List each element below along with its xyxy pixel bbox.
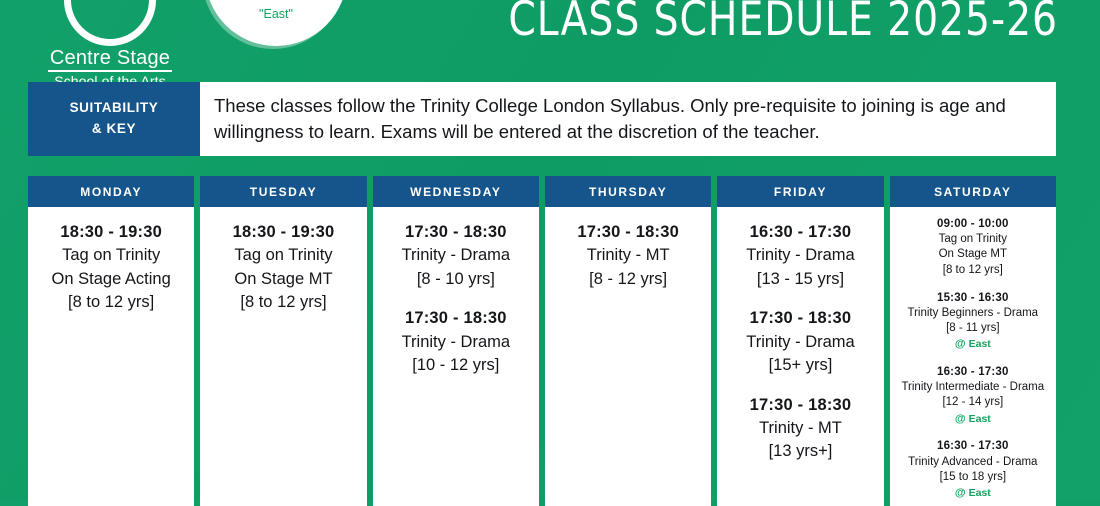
class-age-range: [10 - 12 yrs]	[379, 354, 533, 377]
class-age-range: [15+ yrs]	[723, 354, 877, 377]
class-time: 17:30 - 18:30	[551, 221, 705, 244]
class-title: Trinity - Drama	[723, 331, 877, 354]
day-body-saturday: 09:00 - 10:00Tag on TrinityOn Stage MT[8…	[890, 207, 1056, 506]
brand-name: Centre Stage	[48, 46, 172, 72]
class-age-range: [12 - 14 yrs]	[896, 395, 1050, 410]
suitability-row: SUITABILITY & KEY These classes follow t…	[28, 82, 1056, 156]
suitability-text: These classes follow the Trinity College…	[200, 82, 1056, 156]
class-title: Trinity - Drama	[379, 331, 533, 354]
class-venue-badge: @ East	[896, 486, 1050, 501]
east-note-badge: unless stated as "East"	[205, 0, 347, 46]
day-body-wednesday: 17:30 - 18:30Trinity - Drama[8 - 10 yrs]…	[373, 207, 539, 506]
class-venue-name: East	[969, 487, 991, 499]
class-title: Trinity Advanced - Drama	[896, 455, 1050, 470]
suitability-label-line-2: & KEY	[92, 119, 136, 140]
class-time: 15:30 - 16:30	[896, 291, 1050, 306]
class-title: Trinity - Drama	[723, 244, 877, 267]
class-title: Tag on Trinity	[206, 244, 360, 267]
class-age-range: [15 to 18 yrs]	[896, 470, 1050, 485]
class-title: On Stage MT	[896, 247, 1050, 262]
badge-line-2: "East"	[259, 5, 293, 24]
day-header-friday[interactable]: FRIDAY	[717, 176, 883, 207]
class-title: On Stage MT	[206, 268, 360, 291]
brand-logo: Centre Stage School of the Arts	[30, 0, 190, 91]
suitability-label-line-1: SUITABILITY	[70, 98, 159, 119]
class-title: Trinity - MT	[551, 244, 705, 267]
class-title: On Stage Acting	[34, 268, 188, 291]
class-venue-badge: @ East	[896, 337, 1050, 352]
class-title: Trinity Beginners - Drama	[896, 306, 1050, 321]
at-symbol-icon: @	[955, 338, 969, 350]
class-time: 09:00 - 10:00	[896, 217, 1050, 232]
at-symbol-icon: @	[955, 413, 969, 425]
class-time: 16:30 - 17:30	[896, 365, 1050, 380]
class-time: 17:30 - 18:30	[379, 307, 533, 330]
class-title: Tag on Trinity	[896, 232, 1050, 247]
day-header-wednesday[interactable]: WEDNESDAY	[373, 176, 539, 207]
page-title: CLASS SCHEDULE 2025-26	[508, 0, 1058, 47]
class-entry[interactable]: 16:30 - 17:30Trinity - Drama[13 - 15 yrs…	[723, 221, 877, 291]
schedule-grid: MONDAY18:30 - 19:30Tag on TrinityOn Stag…	[28, 176, 1056, 506]
brand-name-wrap: Centre Stage	[30, 46, 190, 72]
class-age-range: [8 - 12 yrs]	[551, 268, 705, 291]
class-entry[interactable]: 18:30 - 19:30Tag on TrinityOn Stage Acti…	[34, 221, 188, 315]
day-header-monday[interactable]: MONDAY	[28, 176, 194, 207]
class-time: 18:30 - 19:30	[34, 221, 188, 244]
class-entry[interactable]: 09:00 - 10:00Tag on TrinityOn Stage MT[8…	[896, 217, 1050, 278]
class-entry[interactable]: 17:30 - 18:30Trinity - Drama[10 - 12 yrs…	[379, 307, 533, 377]
class-age-range: [8 to 12 yrs]	[896, 263, 1050, 278]
class-time: 16:30 - 17:30	[723, 221, 877, 244]
day-header-tuesday[interactable]: TUESDAY	[200, 176, 366, 207]
class-age-range: [8 - 10 yrs]	[379, 268, 533, 291]
suitability-label: SUITABILITY & KEY	[28, 82, 200, 156]
class-entry[interactable]: 17:30 - 18:30Trinity - Drama[15+ yrs]	[723, 307, 877, 377]
class-time: 17:30 - 18:30	[723, 307, 877, 330]
class-venue-name: East	[969, 338, 991, 350]
class-age-range: [13 - 15 yrs]	[723, 268, 877, 291]
class-title: Tag on Trinity	[34, 244, 188, 267]
class-age-range: [13 yrs+]	[723, 440, 877, 463]
at-symbol-icon: @	[955, 487, 969, 499]
class-entry[interactable]: 17:30 - 18:30Trinity - Drama[8 - 10 yrs]	[379, 221, 533, 291]
class-age-range: [8 to 12 yrs]	[34, 291, 188, 314]
day-header-saturday[interactable]: SATURDAY	[890, 176, 1056, 207]
class-venue-name: East	[969, 413, 991, 425]
day-column-saturday: SATURDAY09:00 - 10:00Tag on TrinityOn St…	[890, 176, 1056, 506]
class-entry[interactable]: 18:30 - 19:30Tag on TrinityOn Stage MT[8…	[206, 221, 360, 315]
class-age-range: [8 - 11 yrs]	[896, 321, 1050, 336]
class-age-range: [8 to 12 yrs]	[206, 291, 360, 314]
class-entry[interactable]: 16:30 - 17:30Trinity Advanced - Drama[15…	[896, 439, 1050, 500]
circle-logo-mark-icon	[64, 0, 156, 46]
class-time: 17:30 - 18:30	[723, 394, 877, 417]
day-column-wednesday: WEDNESDAY17:30 - 18:30Trinity - Drama[8 …	[373, 176, 539, 506]
day-body-friday: 16:30 - 17:30Trinity - Drama[13 - 15 yrs…	[717, 207, 883, 506]
class-entry[interactable]: 17:30 - 18:30Trinity - MT[13 yrs+]	[723, 394, 877, 464]
day-header-thursday[interactable]: THURSDAY	[545, 176, 711, 207]
day-column-friday: FRIDAY16:30 - 17:30Trinity - Drama[13 - …	[717, 176, 883, 506]
day-body-thursday: 17:30 - 18:30Trinity - MT[8 - 12 yrs]	[545, 207, 711, 506]
class-title: Trinity Intermediate - Drama	[896, 380, 1050, 395]
class-title: Trinity - MT	[723, 417, 877, 440]
class-time: 17:30 - 18:30	[379, 221, 533, 244]
class-entry[interactable]: 16:30 - 17:30Trinity Intermediate - Dram…	[896, 365, 1050, 426]
page-header: Centre Stage School of the Arts unless s…	[0, 0, 1100, 78]
class-venue-badge: @ East	[896, 412, 1050, 427]
class-entry[interactable]: 17:30 - 18:30Trinity - MT[8 - 12 yrs]	[551, 221, 705, 291]
day-body-tuesday: 18:30 - 19:30Tag on TrinityOn Stage MT[8…	[200, 207, 366, 506]
class-title: Trinity - Drama	[379, 244, 533, 267]
day-column-thursday: THURSDAY17:30 - 18:30Trinity - MT[8 - 12…	[545, 176, 711, 506]
class-time: 16:30 - 17:30	[896, 439, 1050, 454]
class-time: 18:30 - 19:30	[206, 221, 360, 244]
day-column-monday: MONDAY18:30 - 19:30Tag on TrinityOn Stag…	[28, 176, 194, 506]
day-column-tuesday: TUESDAY18:30 - 19:30Tag on TrinityOn Sta…	[200, 176, 366, 506]
class-entry[interactable]: 15:30 - 16:30Trinity Beginners - Drama[8…	[896, 291, 1050, 352]
day-body-monday: 18:30 - 19:30Tag on TrinityOn Stage Acti…	[28, 207, 194, 506]
